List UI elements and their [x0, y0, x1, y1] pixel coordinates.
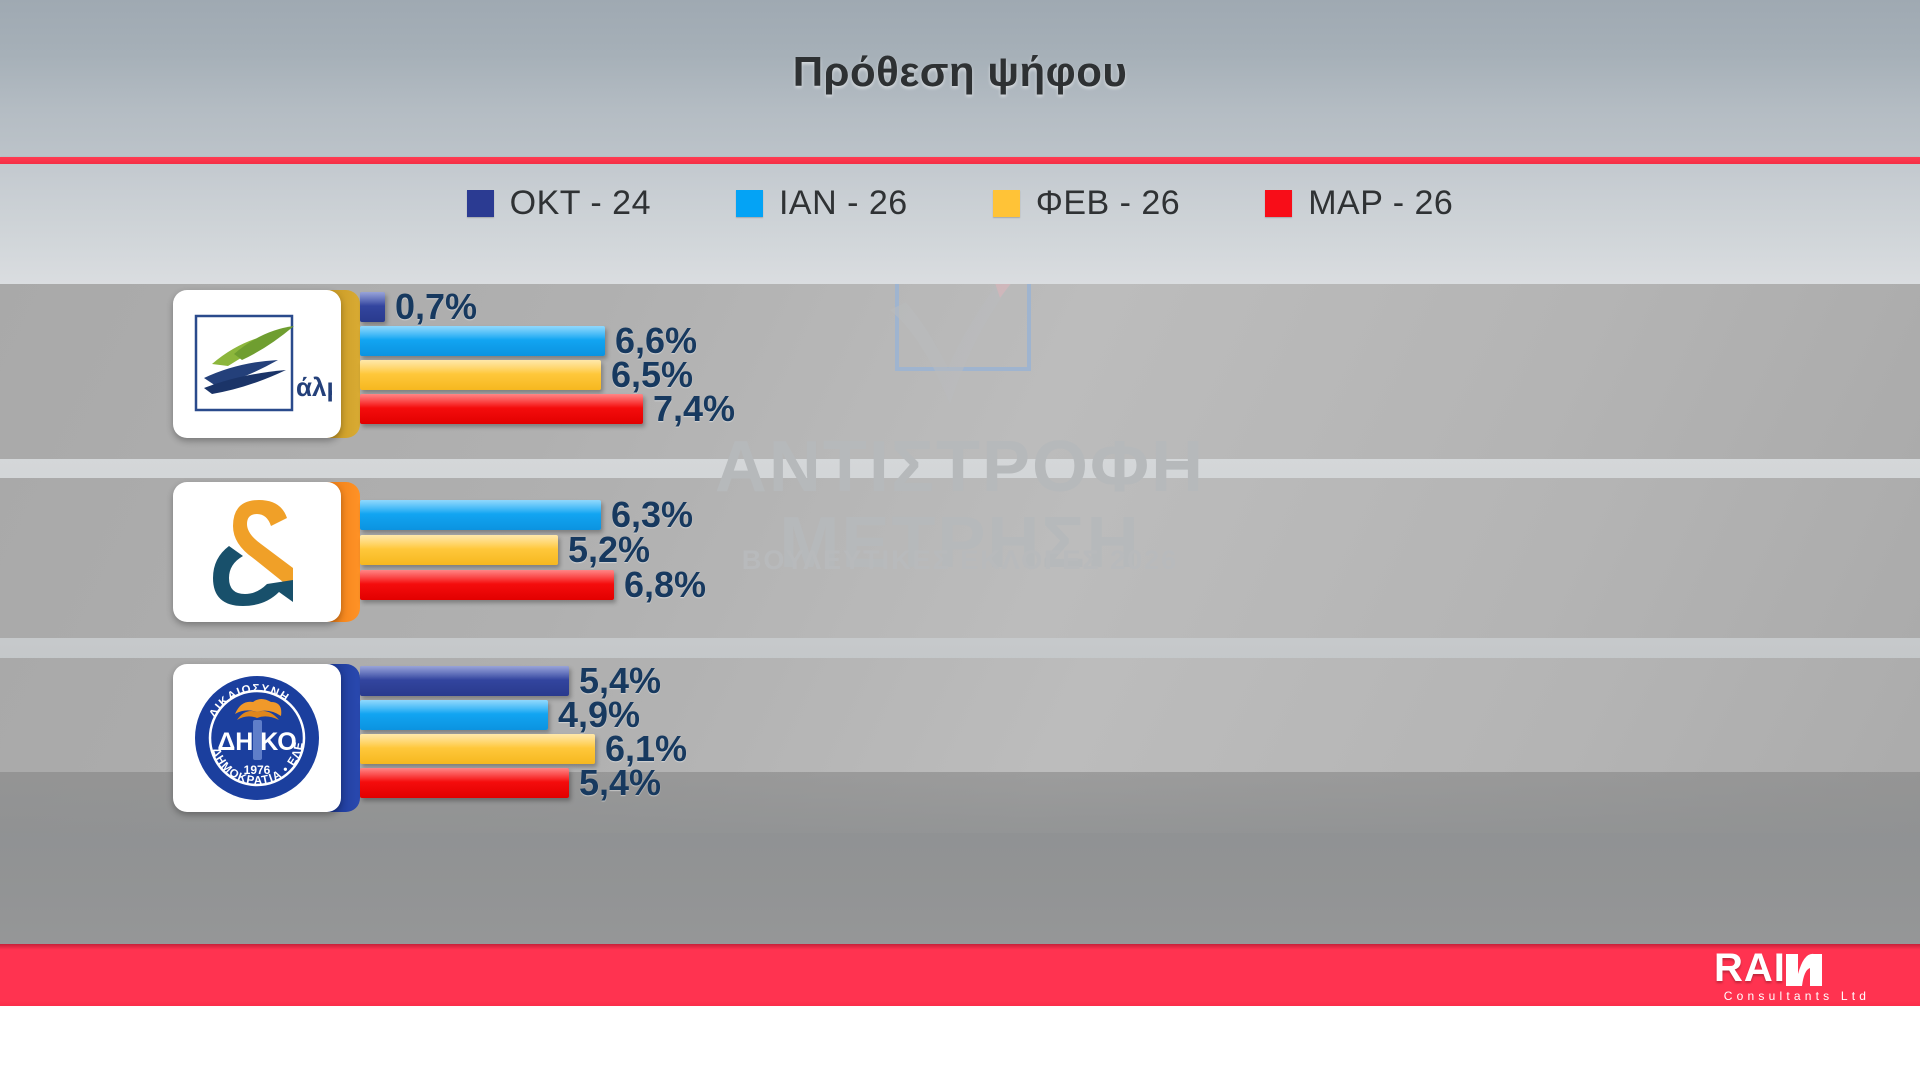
legend-item-mar-26[interactable]: ΜΑΡ - 26	[1265, 184, 1453, 223]
chart-row-diko: ΔΙΚΑΙΟΣΥΝΗ ΔΗΜΟΚΡΑΤΙΑ • ΕΛΕΥΘΕΡΙΑ • ΔΗ Κ…	[0, 658, 1920, 833]
legend-label-mar-26: ΜΑΡ - 26	[1308, 184, 1453, 223]
bar-line-mar-26: 5,4%	[360, 768, 687, 798]
rai-mark-icon	[1784, 948, 1824, 988]
header-divider	[0, 157, 1920, 164]
poll-graphic: ΑΝΤΙΣΤΡΟΦΗ ΜΕΤΡΗΣΗ ΒΟΥΛΕΥΤΙΚΕΣ ΕΚΛΟΓΕΣ 2…	[0, 0, 1920, 1080]
legend-label-fev-26: ΦΕΒ - 26	[1036, 184, 1181, 223]
bar-value-mar-26: 5,4%	[579, 762, 661, 804]
bar-fev-26	[360, 360, 601, 390]
legend-item-ian-26[interactable]: ΙΑΝ - 26	[736, 184, 908, 223]
legend-label-ian-26: ΙΑΝ - 26	[779, 184, 908, 223]
bar-line-okt-24: 0,7%	[360, 292, 735, 322]
bar-line-mar-26: 7,4%	[360, 394, 735, 424]
legend: ΟΚΤ - 24 ΙΑΝ - 26 ΦΕΒ - 26 ΜΑΡ - 26	[0, 178, 1920, 228]
svg-text:1976: 1976	[244, 763, 271, 777]
bar-fev-26	[360, 734, 595, 764]
legend-item-fev-26[interactable]: ΦΕΒ - 26	[993, 184, 1181, 223]
bar-mar-26	[360, 768, 569, 798]
rai-tagline: Consultants Ltd	[1714, 989, 1880, 1003]
bar-mar-26	[360, 394, 643, 424]
diko-logo[interactable]: ΔΙΚΑΙΟΣΥΝΗ ΔΗΜΟΚΡΑΤΙΑ • ΕΛΕΥΘΕΡΙΑ • ΔΗ Κ…	[173, 664, 341, 812]
rai-logo[interactable]: RAI Consultants Ltd	[1714, 948, 1894, 1004]
diko-logo-mark: ΔΙΚΑΙΟΣΥΝΗ ΔΗΜΟΚΡΑΤΙΑ • ΕΛΕΥΘΕΡΙΑ • ΔΗ Κ…	[191, 672, 323, 804]
legend-item-okt-24[interactable]: ΟΚΤ - 24	[467, 184, 651, 223]
alma-logo[interactable]: άλμα	[173, 290, 341, 438]
bars-alma: 0,7% 6,6% 6,5% 7,4%	[360, 292, 735, 424]
bar-okt-24	[360, 666, 569, 696]
ampersand-logo[interactable]	[173, 482, 341, 622]
legend-swatch-mar-26	[1265, 190, 1292, 217]
alma-logo-mark: άλμα	[182, 304, 332, 424]
page-title: Πρόθεση ψήφου	[0, 48, 1920, 96]
bar-line-fev-26: 6,5%	[360, 360, 735, 390]
footer-bar	[0, 944, 1920, 1006]
legend-label-okt-24: ΟΚΤ - 24	[510, 184, 651, 223]
bars-allilengyi: 6,3% 5,2% 6,8%	[360, 500, 706, 600]
bar-ian-26	[360, 500, 601, 530]
legend-swatch-fev-26	[993, 190, 1020, 217]
svg-text:ΔΗ ΚΟ: ΔΗ ΚΟ	[217, 728, 296, 756]
bar-line-ian-26: 6,6%	[360, 326, 735, 356]
rai-brand-text: RAI	[1714, 948, 1786, 988]
legend-swatch-okt-24	[467, 190, 494, 217]
bar-okt-24	[360, 292, 385, 322]
bar-ian-26	[360, 700, 548, 730]
bar-line-mar-26: 6,8%	[360, 570, 706, 600]
bar-line-ian-26: 4,9%	[360, 700, 687, 730]
bar-value-mar-26: 7,4%	[653, 388, 735, 430]
bar-value-okt-24: 0,7%	[395, 286, 477, 328]
bar-mar-26	[360, 570, 614, 600]
legend-swatch-ian-26	[736, 190, 763, 217]
chart-row-allilengyi: 6,3% 5,2% 6,8%	[0, 478, 1920, 638]
svg-text:άλμα: άλμα	[296, 372, 332, 402]
bar-line-fev-26: 6,1%	[360, 734, 687, 764]
bar-ian-26	[360, 326, 605, 356]
bar-fev-26	[360, 535, 558, 565]
bar-line-ian-26: 6,3%	[360, 500, 706, 530]
bars-diko: 5,4% 4,9% 6,1% 5,4%	[360, 666, 687, 798]
chart-row-alma: άλμα 0,7% 6,6% 6,5% 7,4%	[0, 284, 1920, 459]
rai-wordmark: RAI	[1714, 948, 1894, 988]
bar-line-fev-26: 5,2%	[360, 535, 706, 565]
bar-value-mar-26: 6,8%	[624, 564, 706, 606]
bar-line-okt-24: 5,4%	[360, 666, 687, 696]
ampersand-logo-mark	[197, 492, 317, 612]
